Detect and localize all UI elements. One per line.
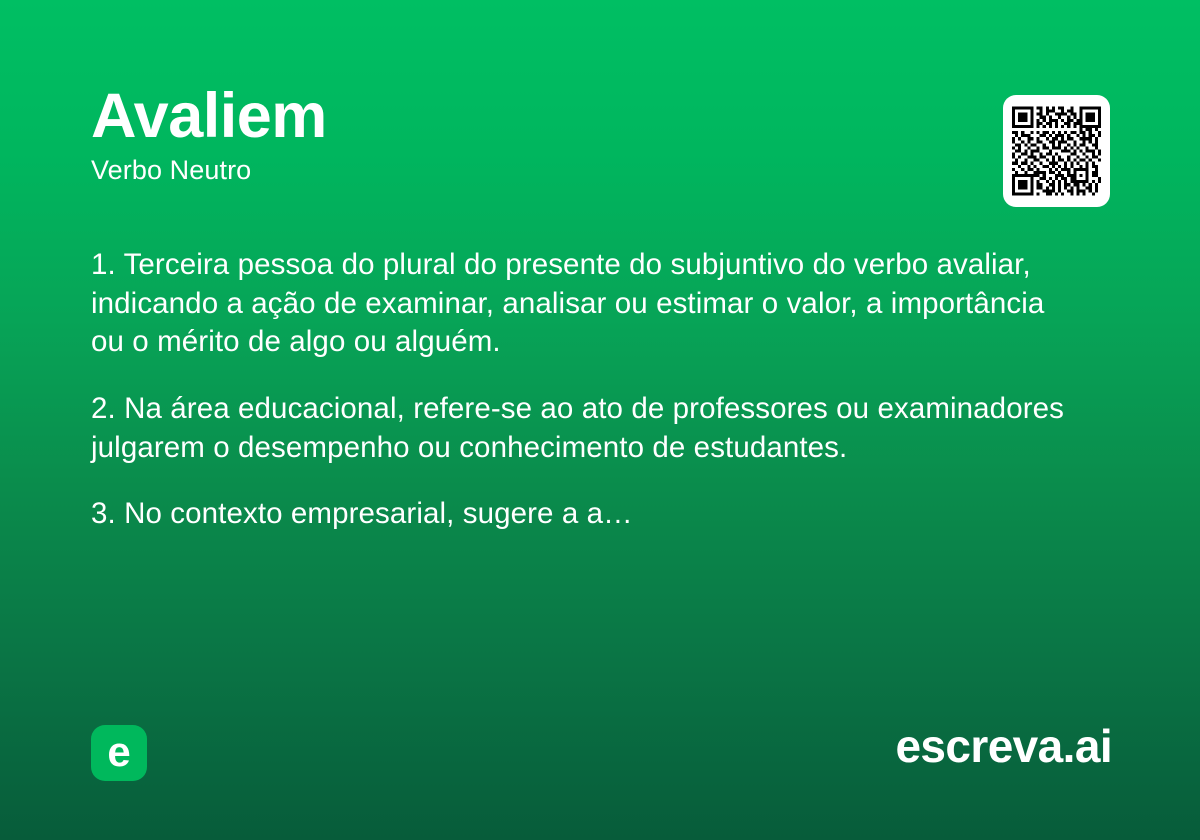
page-title: Avaliem [91, 84, 971, 148]
definition-item: 2. Na área educacional, refere-se ao ato… [91, 390, 1076, 467]
brand-wordmark: escreva.ai [895, 723, 1112, 769]
logo-letter: e [107, 731, 130, 773]
card-header: Avaliem Verbo Neutro [91, 84, 971, 187]
qr-code-panel[interactable] [1003, 95, 1110, 207]
qr-code-icon [1012, 104, 1101, 198]
word-class-label: Verbo Neutro [91, 154, 971, 186]
dictionary-card: Avaliem Verbo Neutro [0, 0, 1200, 840]
escreva-logo-badge: e [91, 725, 147, 781]
definition-list: 1. Terceira pessoa do plural do presente… [91, 246, 1076, 534]
definition-item: 1. Terceira pessoa do plural do presente… [91, 246, 1076, 362]
definition-item: 3. No contexto empresarial, sugere a a… [91, 495, 1076, 534]
